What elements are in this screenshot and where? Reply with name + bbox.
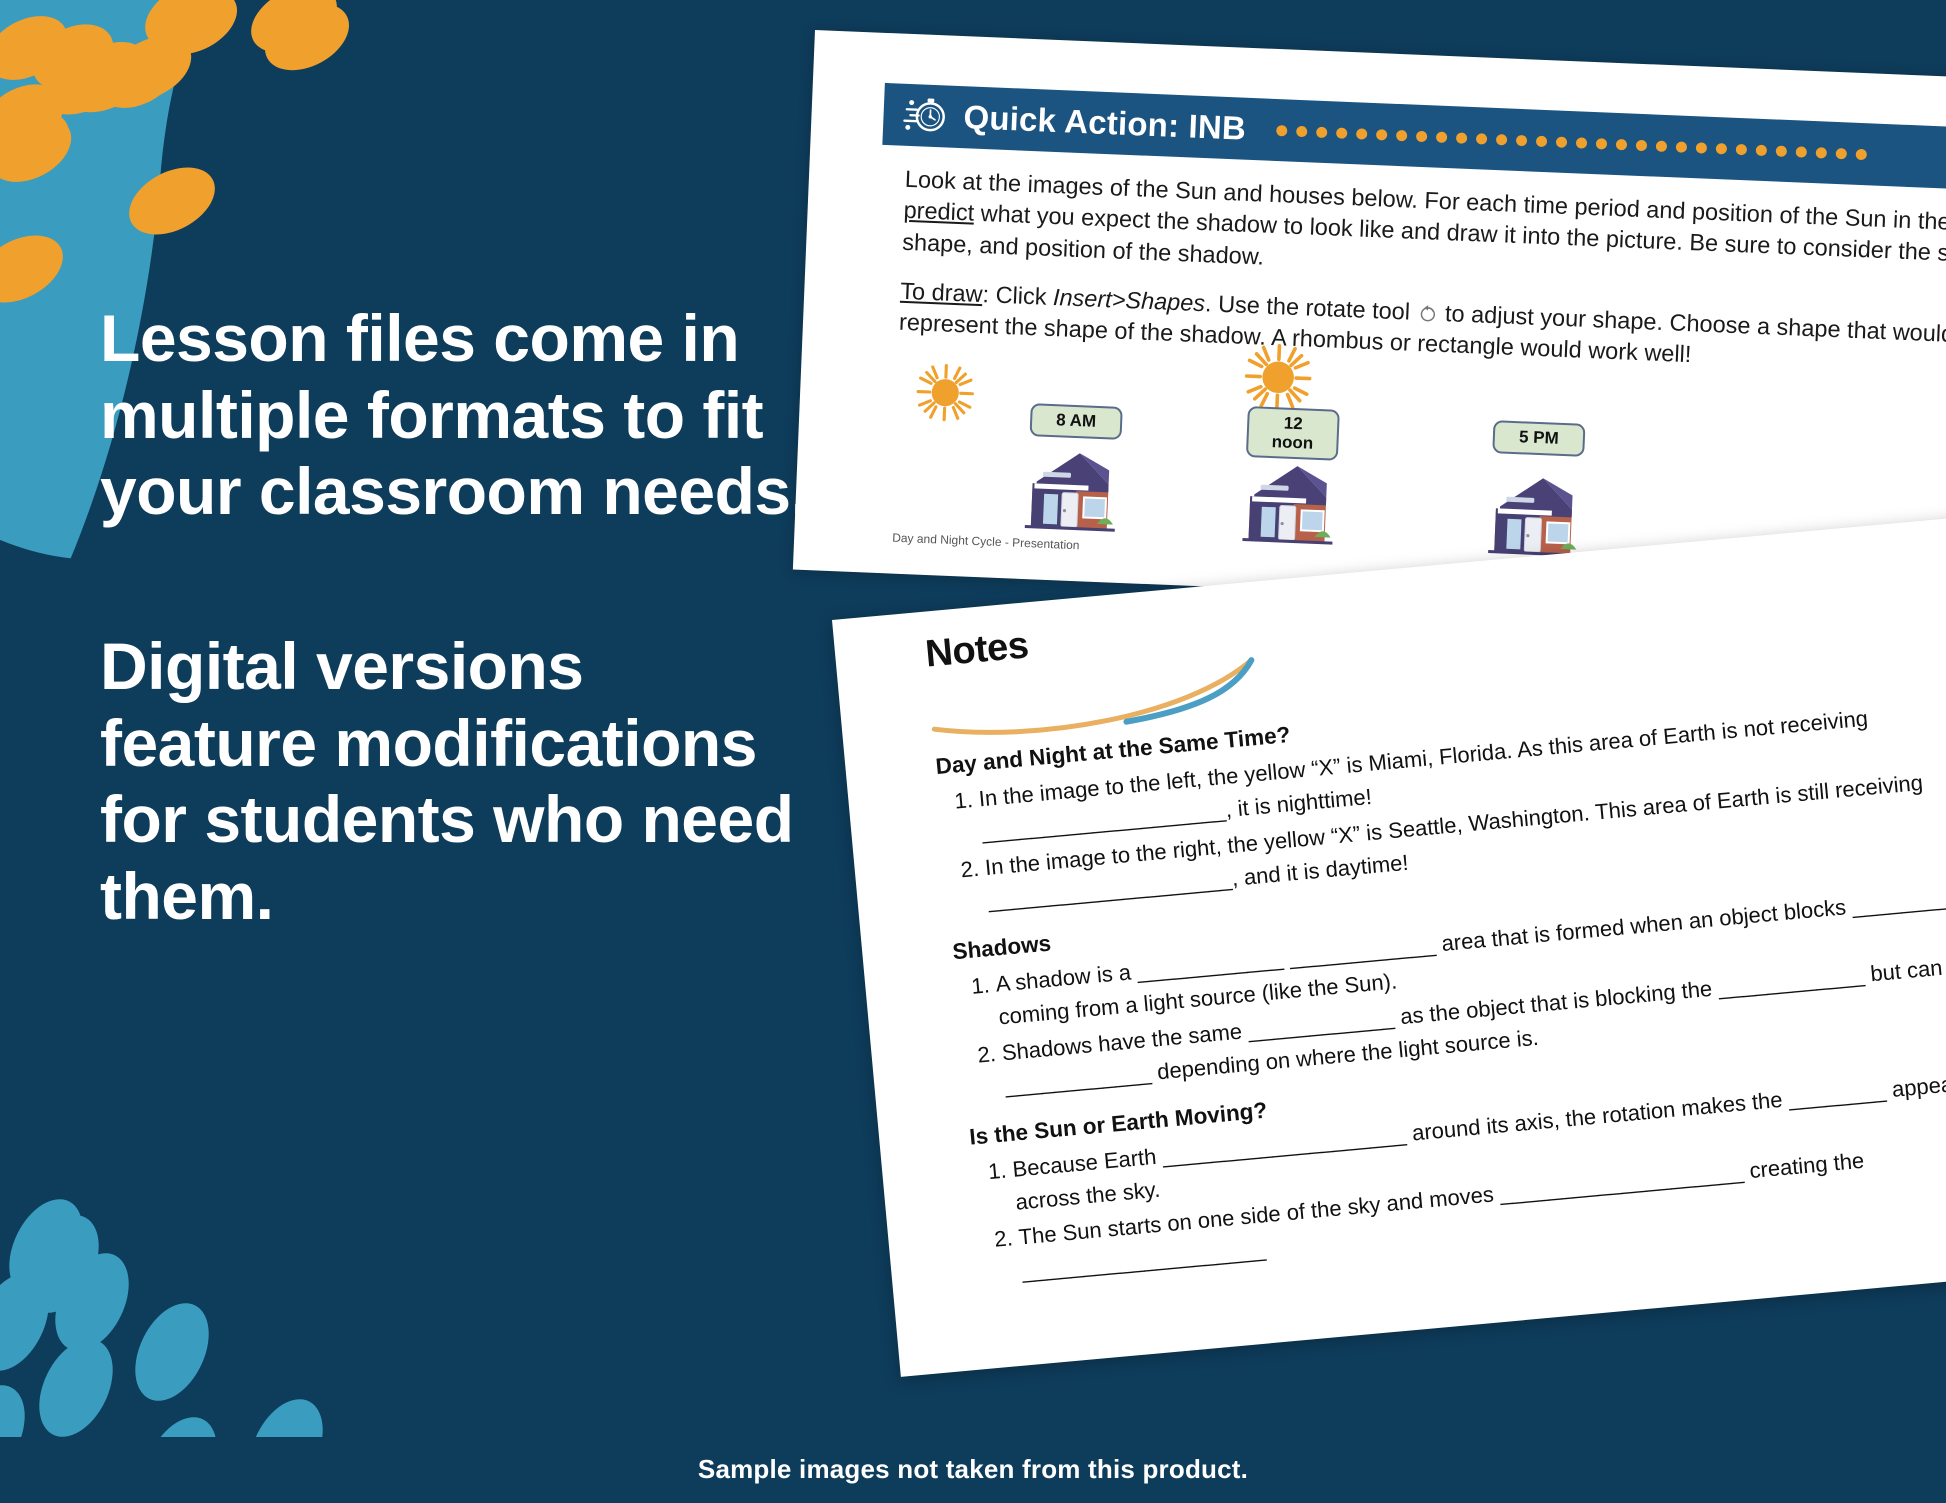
banner-dotted-line: [1262, 124, 1946, 168]
footer-disclaimer: Sample images not taken from this produc…: [0, 1454, 1946, 1485]
slide-document[interactable]: Quick Action: INB Look at the images of …: [793, 30, 1946, 619]
p2-part-a: : Click: [982, 281, 1054, 310]
house-illustration: [1238, 456, 1338, 552]
time-tag-8am: 8 AM: [1030, 403, 1123, 439]
sun-icon: [913, 360, 977, 424]
rotate-handle-icon: [1416, 302, 1439, 325]
p2-part-b: . Use the rotate tool: [1205, 290, 1418, 325]
time-tag-label: 5 PM: [1519, 427, 1559, 448]
notes-content: Notes Day and Night at the Same Time? In…: [924, 534, 1946, 1294]
time-tag-label: 8 AM: [1056, 410, 1097, 431]
time-tag-5pm: 5 PM: [1492, 420, 1585, 456]
p1-underlined-word: predict: [903, 197, 975, 226]
headline-secondary: Digital versions feature modifications f…: [100, 628, 800, 934]
sun-icon: [1241, 340, 1316, 415]
time-tag-label: 12: [1283, 414, 1303, 434]
house-illustration: [1484, 468, 1584, 564]
house-illustration: [1020, 443, 1120, 539]
time-tag-12noon: 12 noon: [1246, 406, 1340, 461]
p2-label: To draw: [900, 277, 983, 306]
poster-canvas: Lesson files come in multiple formats to…: [0, 0, 1946, 1503]
stopwatch-icon: [901, 92, 949, 140]
p2-italic-menu-path: Insert>Shapes: [1053, 284, 1206, 316]
notes-document[interactable]: Notes Day and Night at the Same Time? In…: [832, 509, 1946, 1376]
time-tag-sublabel: noon: [1271, 432, 1313, 453]
headline-primary: Lesson files come in multiple formats to…: [100, 300, 820, 530]
slide-banner-title: Quick Action: INB: [963, 98, 1247, 148]
